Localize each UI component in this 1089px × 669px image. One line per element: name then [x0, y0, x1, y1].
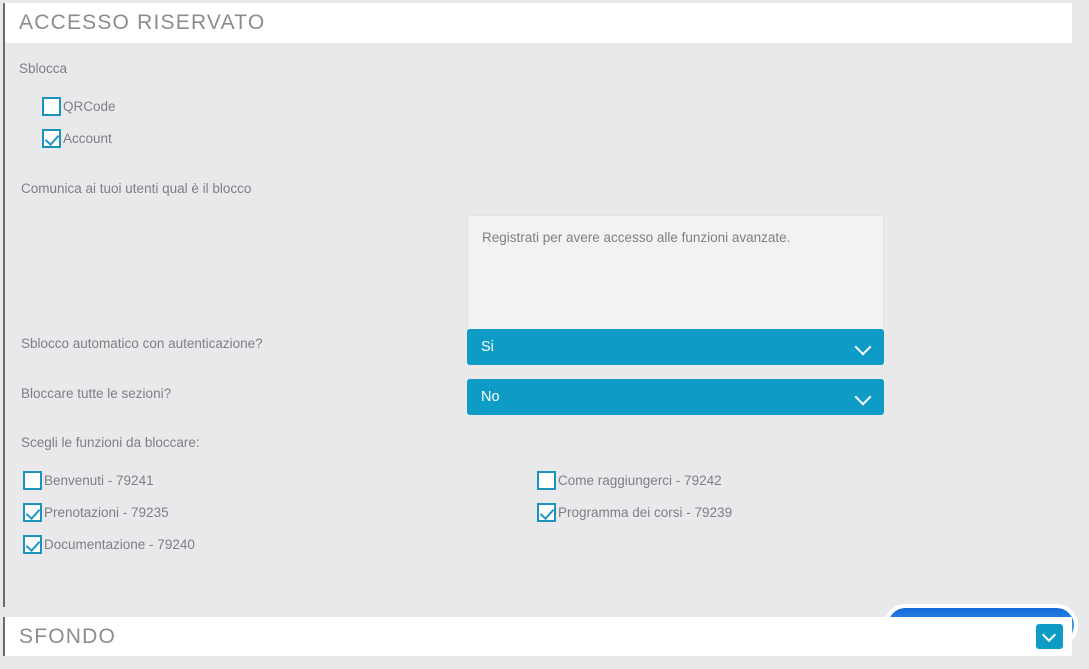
message-textarea[interactable]: [468, 216, 883, 346]
chevron-down-icon: [855, 389, 872, 406]
checkbox-come-raggiungerci[interactable]: Come raggiungerci - 79242: [537, 471, 722, 490]
checkbox-prenotazioni-label: Prenotazioni - 79235: [44, 504, 169, 522]
section-sfondo[interactable]: SFONDO: [3, 617, 1072, 656]
checkbox-prenotazioni[interactable]: Prenotazioni - 79235: [23, 503, 169, 522]
checkbox-prenotazioni-box[interactable]: [23, 503, 42, 522]
checkbox-account-box[interactable]: [42, 129, 61, 148]
label-sblocca: Sblocca: [19, 61, 67, 76]
section-accesso-riservato: ACCESSO RISERVATO Sblocca QRCode Account…: [3, 3, 1072, 607]
checkbox-benvenuti-label: Benvenuti - 79241: [44, 472, 154, 490]
chevron-down-icon: [1041, 628, 1058, 645]
checkbox-qrcode[interactable]: QRCode: [42, 97, 116, 116]
checkbox-account-label: Account: [63, 130, 112, 148]
checkbox-benvenuti-box[interactable]: [23, 471, 42, 490]
sfondo-title: SFONDO: [19, 625, 116, 649]
app-root: ACCESSO RISERVATO Sblocca QRCode Account…: [0, 0, 1089, 669]
chevron-down-icon: [855, 339, 872, 356]
checkbox-documentazione-label: Documentazione - 79240: [44, 536, 195, 554]
checkbox-documentazione[interactable]: Documentazione - 79240: [23, 535, 195, 554]
checkbox-qrcode-box[interactable]: [42, 97, 61, 116]
label-sblocco-automatico: Sblocco automatico con autenticazione?: [21, 336, 263, 351]
accesso-header: ACCESSO RISERVATO: [5, 3, 1072, 43]
select-bloccare-sezioni[interactable]: No: [467, 379, 884, 415]
checkbox-account[interactable]: Account: [42, 129, 112, 148]
checkbox-programma-corsi-box[interactable]: [537, 503, 556, 522]
page-title: ACCESSO RISERVATO: [19, 11, 265, 35]
checkbox-come-raggiungerci-box[interactable]: [537, 471, 556, 490]
accesso-body: Sblocca QRCode Account Comunica ai tuoi …: [5, 43, 1072, 607]
checkbox-programma-corsi-label: Programma dei corsi - 79239: [558, 504, 732, 522]
select-sblocco-automatico-value: Si: [481, 339, 855, 355]
checkbox-benvenuti[interactable]: Benvenuti - 79241: [23, 471, 154, 490]
checkbox-documentazione-box[interactable]: [23, 535, 42, 554]
label-scegli-funzioni: Scegli le funzioni da bloccare:: [21, 435, 200, 450]
select-sblocco-automatico[interactable]: Si: [467, 329, 884, 365]
checkbox-qrcode-label: QRCode: [63, 98, 116, 116]
checkbox-come-raggiungerci-label: Come raggiungerci - 79242: [558, 472, 722, 490]
label-bloccare-sezioni: Bloccare tutte le sezioni?: [21, 386, 171, 401]
select-bloccare-sezioni-value: No: [481, 389, 855, 405]
expand-sfondo-button[interactable]: [1036, 624, 1063, 649]
label-comunica-blocco: Comunica ai tuoi utenti qual è il blocco: [21, 181, 251, 196]
checkbox-programma-corsi[interactable]: Programma dei corsi - 79239: [537, 503, 732, 522]
